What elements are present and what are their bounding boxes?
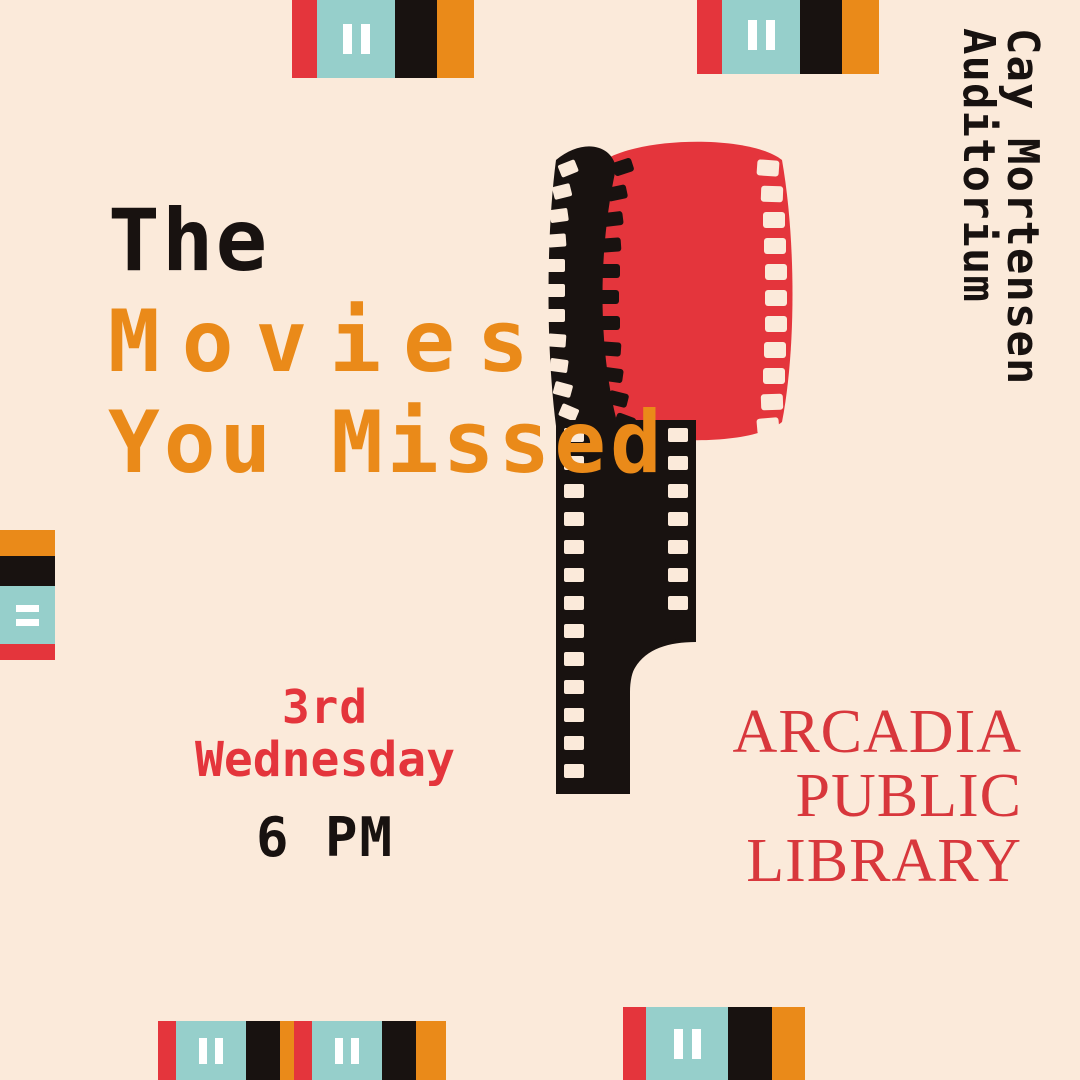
deco-segment-orange (842, 0, 879, 74)
deco-segment-red (623, 1007, 646, 1080)
schedule-day: 3rd (150, 682, 500, 734)
library-name-line-3: LIBRARY (733, 829, 1022, 893)
deco-segment-black (382, 1021, 416, 1080)
deco-bar-bottom-left-b (294, 1021, 446, 1080)
deco-segment-red (0, 644, 55, 660)
deco-segment-orange (416, 1021, 446, 1080)
library-name: ARCADIA PUBLIC LIBRARY (733, 700, 1022, 893)
deco-segment-red (158, 1021, 176, 1080)
schedule-weekday: Wednesday (150, 734, 500, 788)
venue-text: Cay Mortensen Auditorium (944, 28, 1064, 548)
deco-segment-black (395, 0, 437, 78)
deco-segment-red (292, 0, 317, 78)
deco-bar-top-right (697, 0, 879, 74)
deco-segment-black (800, 0, 842, 74)
pause-marks-icon (16, 605, 39, 626)
deco-segment-teal (646, 1007, 728, 1080)
deco-segment-orange (772, 1007, 805, 1080)
deco-segment-teal (722, 0, 800, 74)
headline-line-2: Movies (108, 297, 768, 388)
deco-segment-teal (317, 0, 395, 78)
venue-line-2: Auditorium (953, 28, 1004, 303)
pause-marks-icon (199, 1038, 223, 1064)
pause-marks-icon (674, 1029, 701, 1059)
deco-segment-orange (437, 0, 474, 78)
headline-line-1: The (108, 196, 768, 287)
schedule-time: 6 PM (150, 806, 500, 869)
deco-segment-black (0, 556, 55, 586)
poster-canvas: The Movies You Missed 3rd Wednesday 6 PM… (0, 0, 1080, 1080)
pause-marks-icon (748, 20, 775, 50)
deco-segment-orange (0, 530, 55, 556)
deco-bar-bottom-right (623, 1007, 805, 1080)
library-name-line-1: ARCADIA (733, 700, 1022, 764)
deco-segment-black (246, 1021, 280, 1080)
deco-segment-teal (312, 1021, 382, 1080)
deco-segment-red (697, 0, 722, 74)
pause-marks-icon (335, 1038, 359, 1064)
deco-bar-top-left (292, 0, 474, 78)
deco-segment-teal (176, 1021, 246, 1080)
deco-bar-left-edge (0, 530, 55, 660)
headline-line-3: You Missed (108, 398, 768, 489)
poster-headline: The Movies You Missed (108, 196, 768, 489)
library-name-line-2: PUBLIC (733, 764, 1022, 828)
pause-marks-icon (343, 24, 370, 54)
deco-bar-bottom-left-a (158, 1021, 310, 1080)
deco-segment-red (294, 1021, 312, 1080)
schedule-date: 3rd Wednesday (150, 682, 500, 787)
deco-segment-teal (0, 586, 55, 644)
venue-line-1: Cay Mortensen (997, 28, 1048, 385)
deco-segment-black (728, 1007, 772, 1080)
